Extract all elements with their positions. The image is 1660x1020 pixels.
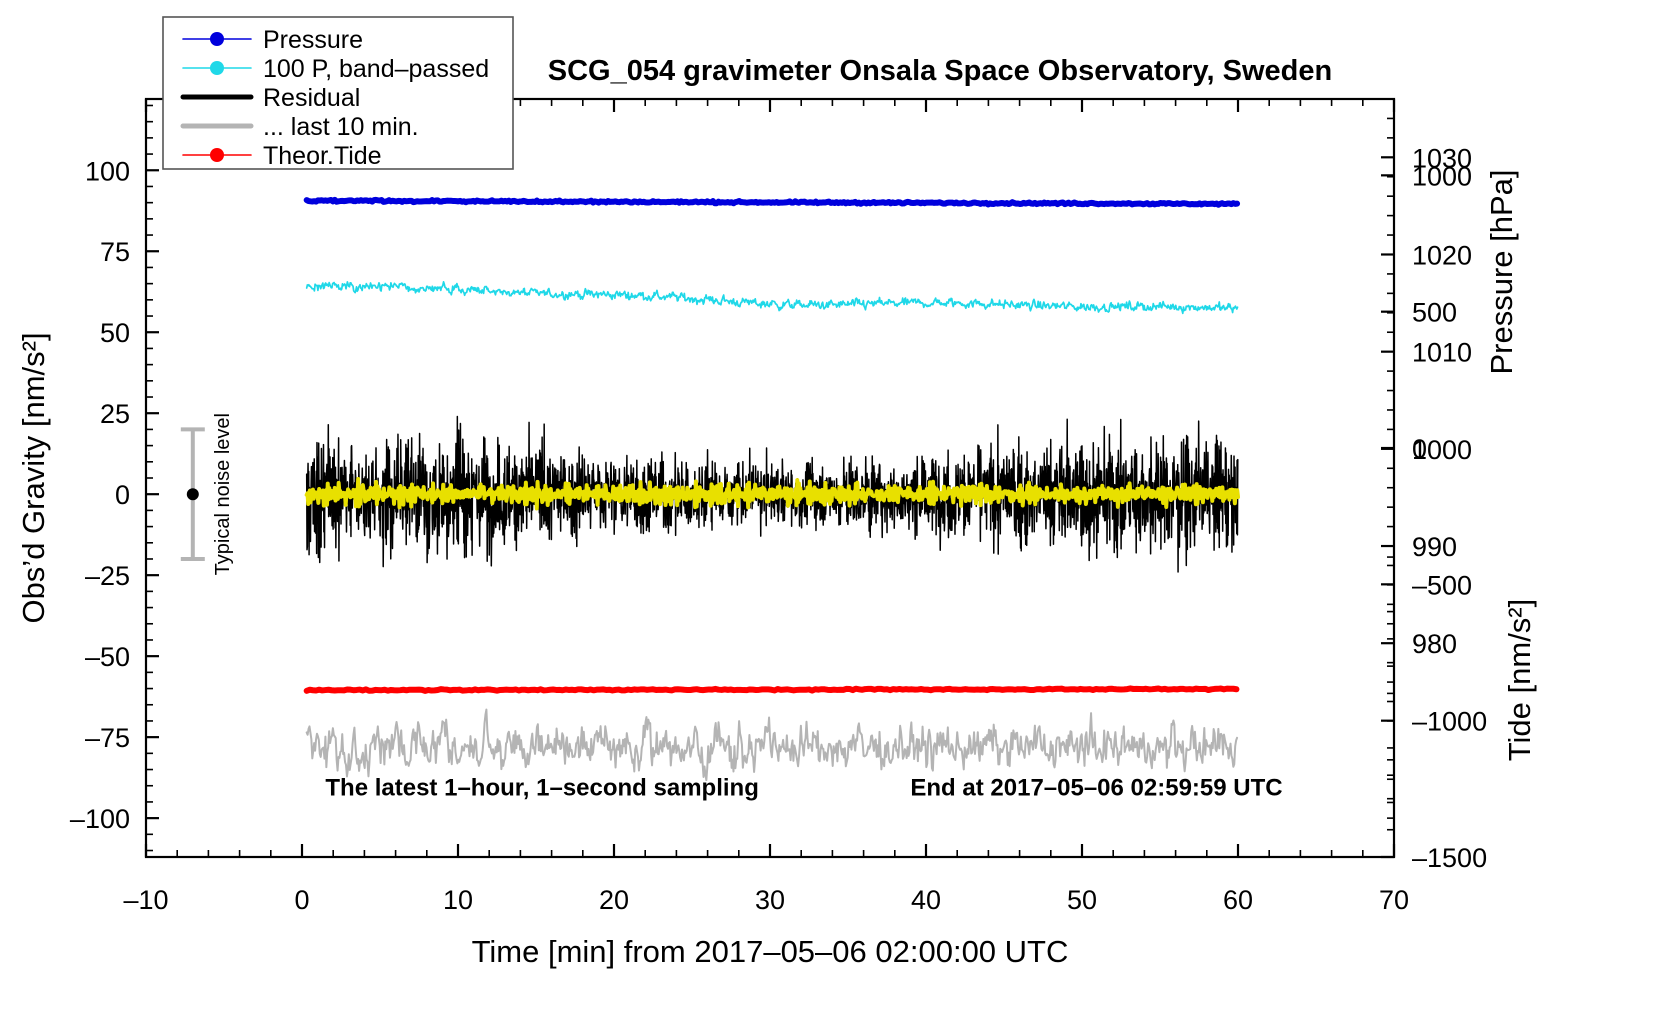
pressure-tick-label-4: 1020 — [1412, 240, 1472, 270]
legend-marker-4 — [210, 148, 224, 162]
y-tick-label-8: 100 — [85, 156, 130, 186]
tide-tick-label-4: –1000 — [1412, 707, 1487, 737]
y-tick-label-6: 50 — [100, 318, 130, 348]
y-tick-label-4: 0 — [115, 480, 130, 510]
gravimeter-chart: –10010203040506070Time [min] from 2017–0… — [0, 0, 1660, 1020]
legend-label-0: Pressure — [263, 26, 363, 54]
chart-canvas: –10010203040506070Time [min] from 2017–0… — [0, 0, 1660, 1020]
tide-tick-label-2: 0 — [1412, 434, 1427, 464]
x-tick-label-8: 70 — [1379, 885, 1409, 915]
y-tick-label-1: –75 — [85, 723, 130, 753]
y-tick-label-0: –100 — [70, 804, 130, 834]
pressure-axis-title: Pressure [hPa] — [1484, 169, 1519, 374]
x-axis-title: Time [min] from 2017–05–06 02:00:00 UTC — [472, 934, 1069, 969]
pressure-tick-label-0: 980 — [1412, 629, 1457, 659]
tide-axis-title: Tide [nm/s²] — [1502, 599, 1537, 762]
series-pressure — [307, 200, 1237, 205]
y-tick-label-7: 75 — [100, 237, 130, 267]
legend-label-2: Residual — [263, 84, 360, 112]
tide-tick-label-0: 1000 — [1412, 161, 1472, 191]
legend-label-3: ... last 10 min. — [263, 113, 419, 141]
end-time-note: End at 2017–05–06 02:59:59 UTC — [910, 774, 1282, 801]
series-last-10-min — [307, 710, 1237, 781]
series-theor-tide — [307, 688, 1237, 691]
x-tick-label-1: 0 — [294, 885, 309, 915]
series-band-passed — [307, 282, 1238, 314]
x-tick-label-2: 10 — [443, 885, 473, 915]
x-tick-label-3: 20 — [599, 885, 629, 915]
x-tick-label-4: 30 — [755, 885, 785, 915]
pressure-tick-label-3: 1010 — [1412, 338, 1472, 368]
y-tick-label-2: –50 — [85, 642, 130, 672]
pressure-tick-label-1: 990 — [1412, 532, 1457, 562]
tide-tick-label-5: –1500 — [1412, 843, 1487, 873]
noise-level-label: Typical noise level — [212, 413, 234, 575]
x-tick-label-0: –10 — [123, 885, 168, 915]
legend-marker-0 — [210, 32, 224, 46]
tide-tick-label-1: 500 — [1412, 298, 1457, 328]
y-tick-label-3: –25 — [85, 561, 130, 591]
x-tick-label-7: 60 — [1223, 885, 1253, 915]
legend-label-1: 100 P, band–passed — [263, 55, 489, 83]
tide-tick-label-3: –500 — [1412, 570, 1472, 600]
x-tick-label-6: 50 — [1067, 885, 1097, 915]
y-axis-title: Obs’d Gravity [nm/s²] — [16, 332, 51, 623]
y-tick-label-5: 25 — [100, 399, 130, 429]
legend-marker-1 — [210, 61, 224, 75]
x-tick-label-5: 40 — [911, 885, 941, 915]
noise-center-dot — [187, 488, 199, 500]
chart-title: SCG_054 gravimeter Onsala Space Observat… — [548, 55, 1332, 87]
sampling-note: The latest 1–hour, 1–second sampling — [325, 774, 758, 801]
legend-label-4: Theor.Tide — [263, 142, 382, 170]
